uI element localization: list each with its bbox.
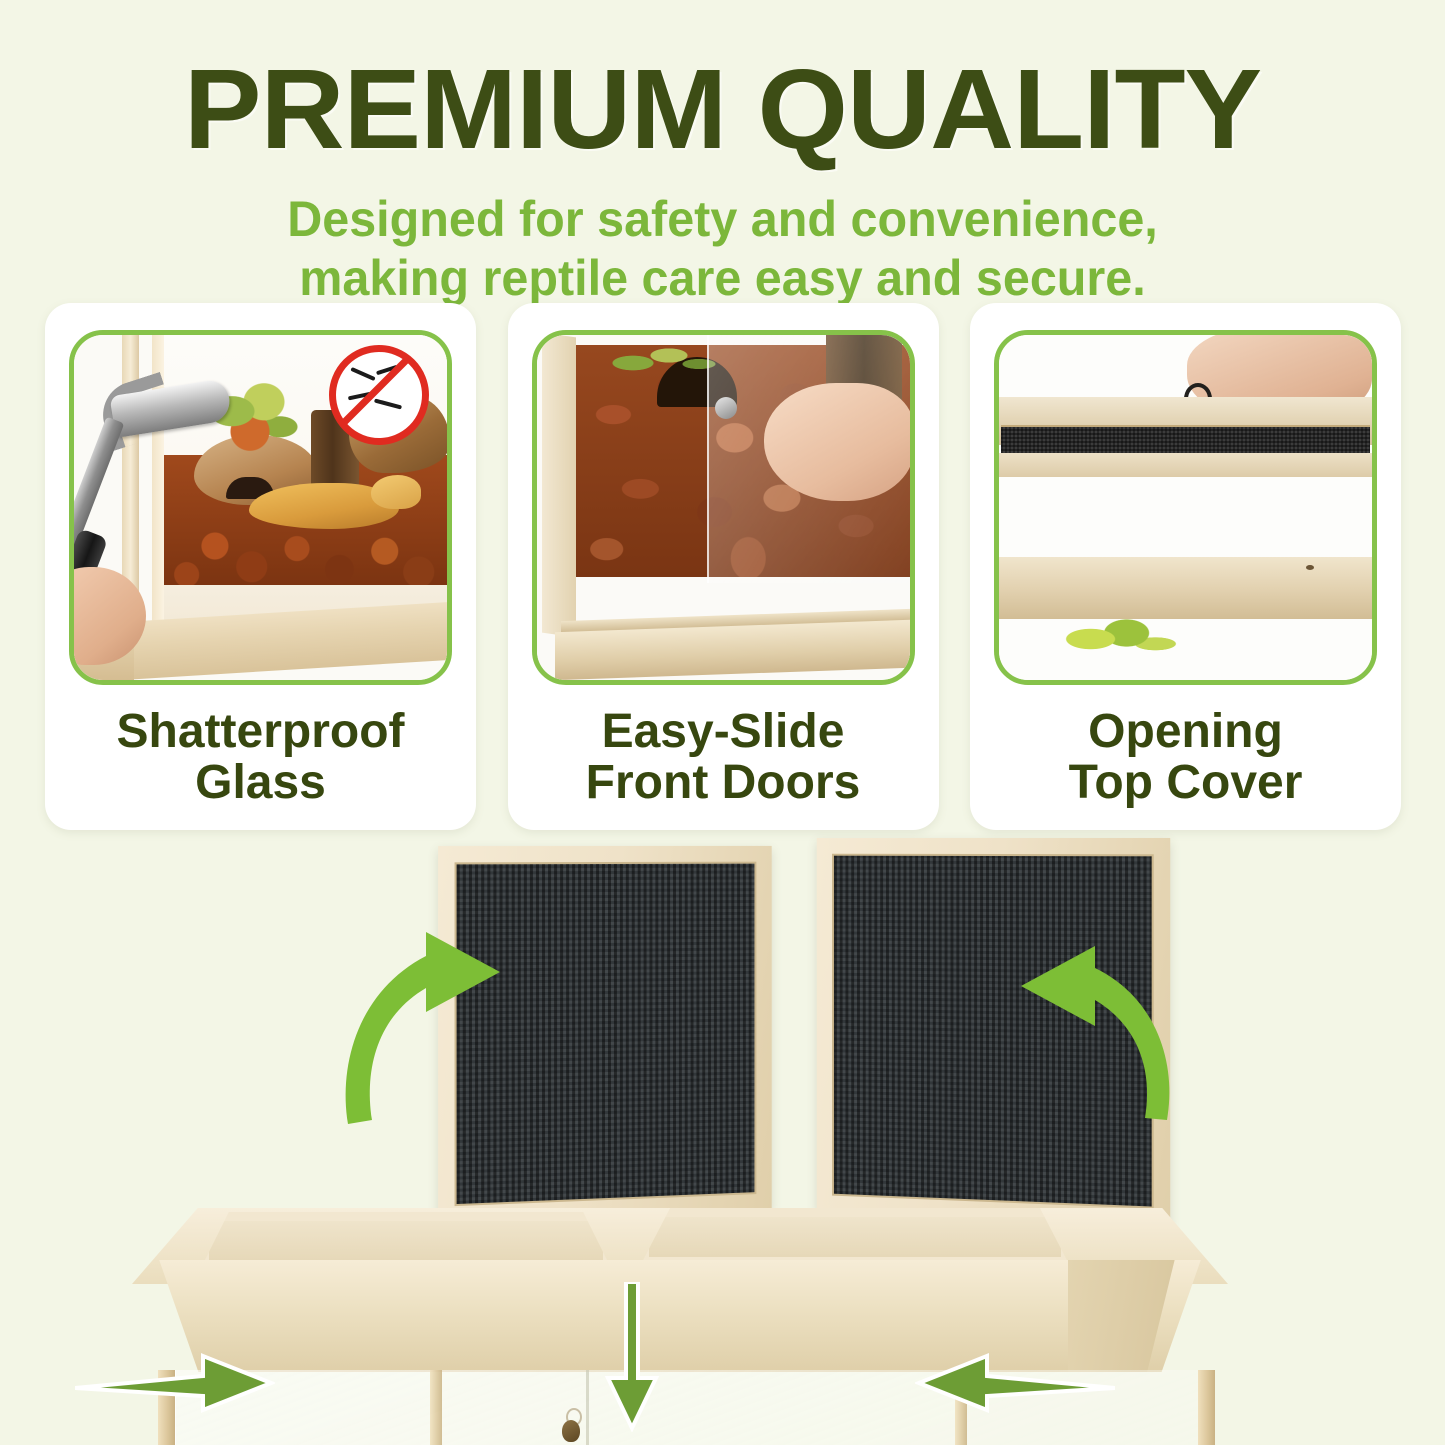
- caption-line-2: Top Cover: [1069, 758, 1303, 809]
- subtitle-line-2: making reptile care easy and secure.: [22, 249, 1424, 308]
- feature-caption-opening-top-cover: Opening Top Cover: [1069, 707, 1303, 809]
- arrow-right-icon: [75, 1352, 275, 1414]
- door-knob-icon: [562, 1420, 580, 1442]
- caption-line-1: Opening: [1069, 707, 1303, 758]
- feature-card-shatterproof-glass: Shatterproof Glass: [45, 303, 476, 830]
- feature-card-list: Shatterproof Glass Easy-Slide Fro: [45, 303, 1401, 830]
- hand: [764, 383, 914, 501]
- arrow-down-icon: [600, 1282, 662, 1432]
- arrow-curve-right-icon: [995, 932, 1185, 1132]
- feature-photo-easy-slide-front-doors: [532, 330, 915, 685]
- caption-line-2: Front Doors: [586, 758, 861, 809]
- feature-card-easy-slide-front-doors: Easy-Slide Front Doors: [508, 303, 939, 830]
- caption-line-1: Easy-Slide: [586, 707, 861, 758]
- page-title: PREMIUM QUALITY: [0, 52, 1445, 167]
- page-subtitle: Designed for safety and convenience, mak…: [22, 190, 1424, 308]
- feature-photo-opening-top-cover: [994, 330, 1377, 685]
- feature-photo-shatterproof-glass: [69, 330, 452, 685]
- infographic-canvas: PREMIUM QUALITY Designed for safety and …: [0, 0, 1445, 1445]
- subtitle-line-1: Designed for safety and convenience,: [22, 190, 1424, 249]
- caption-line-1: Shatterproof: [117, 707, 405, 758]
- arrow-left-icon: [915, 1352, 1115, 1414]
- door-knob-icon: [715, 397, 737, 419]
- feature-caption-easy-slide-front-doors: Easy-Slide Front Doors: [586, 707, 861, 809]
- caption-line-2: Glass: [117, 758, 405, 809]
- no-crack-icon: [329, 345, 429, 445]
- feature-caption-shatterproof-glass: Shatterproof Glass: [117, 707, 405, 809]
- arrow-curve-left-icon: [330, 912, 530, 1142]
- tank-opening-right: [640, 1208, 1070, 1266]
- feature-card-opening-top-cover: Opening Top Cover: [970, 303, 1401, 830]
